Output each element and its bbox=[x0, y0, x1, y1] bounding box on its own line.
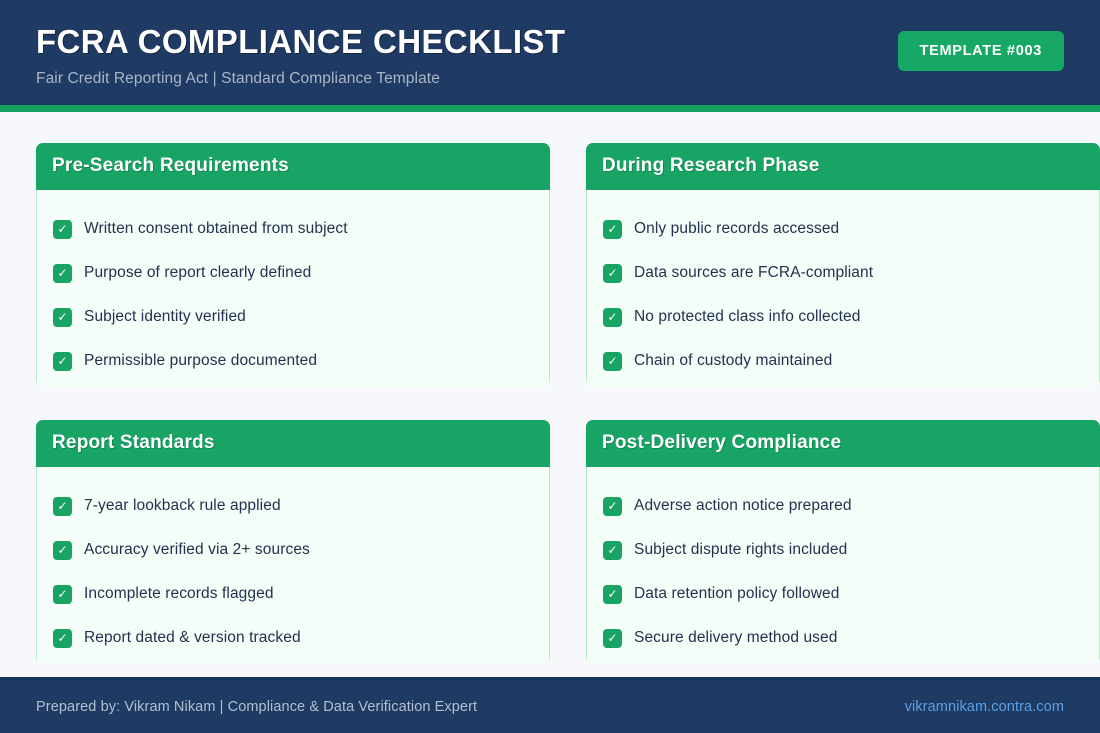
checklist-item[interactable]: ✓Written consent obtained from subject bbox=[53, 207, 533, 251]
checklist-item-label: Written consent obtained from subject bbox=[84, 220, 348, 238]
checklist-item[interactable]: ✓Only public records accessed bbox=[603, 207, 1083, 251]
checklist-item-label: Accuracy verified via 2+ sources bbox=[84, 541, 310, 559]
page-subtitle: Fair Credit Reporting Act | Standard Com… bbox=[36, 70, 1100, 88]
footer-credit: Prepared by: Vikram Nikam | Compliance &… bbox=[36, 699, 477, 715]
checklist-item-label: Incomplete records flagged bbox=[84, 585, 274, 603]
check-icon[interactable]: ✓ bbox=[53, 541, 72, 560]
card-title: Report Standards bbox=[36, 420, 550, 467]
template-badge[interactable]: TEMPLATE #003 bbox=[898, 31, 1064, 71]
checklist-item[interactable]: ✓No protected class info collected bbox=[603, 295, 1083, 339]
check-icon[interactable]: ✓ bbox=[53, 497, 72, 516]
checklist-item-label: Only public records accessed bbox=[634, 220, 839, 238]
card-title: Pre-Search Requirements bbox=[36, 143, 550, 190]
checklist-item[interactable]: ✓Purpose of report clearly defined bbox=[53, 251, 533, 295]
check-icon[interactable]: ✓ bbox=[603, 352, 622, 371]
accent-divider bbox=[0, 105, 1100, 112]
checklist-item[interactable]: ✓Data sources are FCRA-compliant bbox=[603, 251, 1083, 295]
checklist-item-label: Subject dispute rights included bbox=[634, 541, 847, 559]
checklist-card: Pre-Search Requirements✓Written consent … bbox=[36, 143, 550, 387]
checklist-item[interactable]: ✓7-year lookback rule applied bbox=[53, 484, 533, 528]
checklist-item[interactable]: ✓Accuracy verified via 2+ sources bbox=[53, 528, 533, 572]
checklist-item-label: Chain of custody maintained bbox=[634, 352, 832, 370]
checklist-item[interactable]: ✓Permissible purpose documented bbox=[53, 339, 533, 383]
check-icon[interactable]: ✓ bbox=[603, 541, 622, 560]
card-body: ✓Written consent obtained from subject✓P… bbox=[36, 190, 550, 387]
checklist-item-label: 7-year lookback rule applied bbox=[84, 497, 281, 515]
checklist-item[interactable]: ✓Report dated & version tracked bbox=[53, 616, 533, 660]
checklist-item-label: No protected class info collected bbox=[634, 308, 860, 326]
checklist-item-label: Data sources are FCRA-compliant bbox=[634, 264, 873, 282]
check-icon[interactable]: ✓ bbox=[603, 220, 622, 239]
checklist-item[interactable]: ✓Subject dispute rights included bbox=[603, 528, 1083, 572]
checklist-item-label: Permissible purpose documented bbox=[84, 352, 317, 370]
card-body: ✓Adverse action notice prepared✓Subject … bbox=[586, 467, 1100, 664]
checklist-card: Post-Delivery Compliance✓Adverse action … bbox=[586, 420, 1100, 664]
footer-website-link[interactable]: vikramnikam.contra.com bbox=[905, 699, 1064, 715]
card-title: Post-Delivery Compliance bbox=[586, 420, 1100, 467]
checklist-item[interactable]: ✓Incomplete records flagged bbox=[53, 572, 533, 616]
card-body: ✓Only public records accessed✓Data sourc… bbox=[586, 190, 1100, 387]
checklist-item-label: Secure delivery method used bbox=[634, 629, 837, 647]
checklist-item-label: Data retention policy followed bbox=[634, 585, 839, 603]
check-icon[interactable]: ✓ bbox=[53, 220, 72, 239]
checklist-item[interactable]: ✓Secure delivery method used bbox=[603, 616, 1083, 660]
checklist-item[interactable]: ✓Chain of custody maintained bbox=[603, 339, 1083, 383]
page-header: FCRA COMPLIANCE CHECKLIST Fair Credit Re… bbox=[0, 0, 1100, 105]
check-icon[interactable]: ✓ bbox=[603, 629, 622, 648]
check-icon[interactable]: ✓ bbox=[53, 585, 72, 604]
checklist-grid: Pre-Search Requirements✓Written consent … bbox=[0, 112, 1100, 677]
check-icon[interactable]: ✓ bbox=[603, 585, 622, 604]
check-icon[interactable]: ✓ bbox=[603, 497, 622, 516]
page-footer: Prepared by: Vikram Nikam | Compliance &… bbox=[0, 677, 1100, 733]
checklist-item-label: Report dated & version tracked bbox=[84, 629, 301, 647]
check-icon[interactable]: ✓ bbox=[53, 352, 72, 371]
checklist-item-label: Subject identity verified bbox=[84, 308, 246, 326]
check-icon[interactable]: ✓ bbox=[603, 308, 622, 327]
check-icon[interactable]: ✓ bbox=[53, 264, 72, 283]
check-icon[interactable]: ✓ bbox=[603, 264, 622, 283]
checklist-page: FCRA COMPLIANCE CHECKLIST Fair Credit Re… bbox=[0, 0, 1100, 733]
checklist-card: During Research Phase✓Only public record… bbox=[586, 143, 1100, 387]
check-icon[interactable]: ✓ bbox=[53, 308, 72, 327]
checklist-item[interactable]: ✓Subject identity verified bbox=[53, 295, 533, 339]
check-icon[interactable]: ✓ bbox=[53, 629, 72, 648]
checklist-item[interactable]: ✓Data retention policy followed bbox=[603, 572, 1083, 616]
card-title: During Research Phase bbox=[586, 143, 1100, 190]
checklist-item-label: Purpose of report clearly defined bbox=[84, 264, 311, 282]
card-body: ✓7-year lookback rule applied✓Accuracy v… bbox=[36, 467, 550, 664]
checklist-item-label: Adverse action notice prepared bbox=[634, 497, 852, 515]
checklist-card: Report Standards✓7-year lookback rule ap… bbox=[36, 420, 550, 664]
checklist-item[interactable]: ✓Adverse action notice prepared bbox=[603, 484, 1083, 528]
